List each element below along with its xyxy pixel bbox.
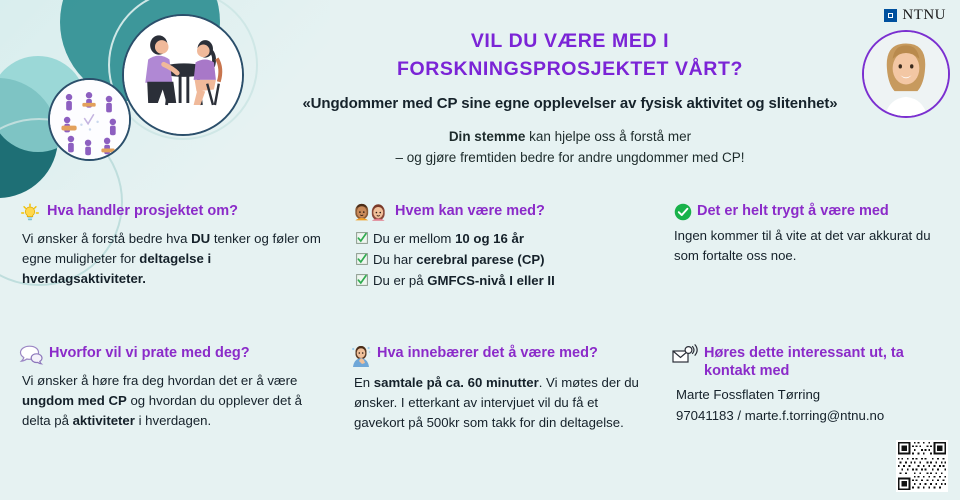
tagline-rest: kan hjelpe oss å forstå mer (525, 129, 691, 144)
contact-separator: / (737, 408, 741, 423)
who-bold-0: 10 og 16 år (455, 231, 524, 246)
section-about-heading: Hva handler prosjektet om? (18, 202, 328, 224)
checkbox-checked-icon (356, 232, 368, 244)
section-who: Hvem kan være med? Du er mellom 10 og 16… (342, 196, 664, 338)
who-bold-2: GMFCS-nivå I eller II (427, 273, 555, 288)
why-bold-2: aktiviteter (73, 413, 135, 428)
section-about-body: Vi ønsker å forstå bedre hva DU tenker o… (18, 229, 328, 289)
speech-bubbles-icon (18, 344, 44, 366)
contact-phone-email: 97041183 / marte.f.torring@ntnu.no (676, 406, 946, 426)
why-text-1: Vi ønsker å høre fra deg hvordan det er … (22, 373, 297, 388)
eligibility-list: Du er mellom 10 og 16 år Du har cerebral… (350, 229, 650, 292)
list-item: Du er på GMFCS-nivå I eller II (356, 271, 650, 292)
section-why-body: Vi ønsker å høre fra deg hvordan det er … (18, 371, 328, 431)
list-item: Du har cerebral parese (CP) (356, 250, 650, 271)
ntnu-wordmark: NTNU (902, 8, 946, 23)
section-who-heading: Hvem kan være med? (350, 202, 650, 224)
section-why: Hvorfor vil vi prate med deg? Vi ønsker … (0, 338, 342, 488)
contact-phone[interactable]: 97041183 (676, 408, 734, 423)
section-about-title: Hva handler prosjektet om? (47, 202, 238, 220)
two-people-icon (350, 202, 390, 224)
page-title-line1: VIL DU VÆRE MED I (250, 28, 890, 56)
section-about: Hva handler prosjektet om? Vi ønsker å f… (0, 196, 342, 338)
section-who-title: Hvem kan være med? (395, 202, 545, 220)
ntnu-logo: NTNU (884, 8, 946, 23)
contact-email[interactable]: marte.f.torring@ntnu.no (745, 408, 884, 423)
project-subtitle: «Ungdommer med CP sine egne opplevelser … (250, 95, 890, 112)
section-why-heading: Hvorfor vil vi prate med deg? (18, 344, 328, 366)
content-grid: Hva handler prosjektet om? Vi ønsker å f… (0, 196, 960, 496)
lightbulb-icon (18, 202, 42, 224)
section-what-title: Hva innebærer det å være med? (377, 344, 598, 362)
who-text-2: Du er på (373, 273, 427, 288)
who-bold-1: cerebral parese (CP) (416, 252, 544, 267)
section-contact-title: Høres dette interessant ut, ta kontakt m… (704, 344, 946, 380)
list-item-text: Du er mellom 10 og 16 år (373, 229, 524, 250)
why-bold-1: ungdom med CP (22, 393, 127, 408)
header-block: VIL DU VÆRE MED I FORSKNINGSPROSJEKTET V… (250, 28, 890, 168)
mail-contact-icon (672, 344, 699, 366)
section-safe-body: Ingen kommer til å vite at det var akkur… (670, 226, 946, 266)
tagline-bold: Din stemme (449, 129, 526, 144)
about-text-1: Vi ønsker å forstå bedre hva (22, 231, 191, 246)
tagline-line1: Din stemme kan hjelpe oss å forstå mer (250, 127, 890, 147)
section-what-heading: Hva innebærer det å være med? (350, 344, 650, 368)
section-safe-title: Det er helt trygt å være med (697, 202, 889, 220)
section-what-body: En samtale på ca. 60 minutter. Vi møtes … (350, 373, 650, 433)
list-item: Du er mellom 10 og 16 år (356, 229, 650, 250)
section-safe: Det er helt trygt å være med Ingen komme… (664, 196, 960, 338)
what-text-1: En (354, 375, 374, 390)
why-text-3: i hverdagen. (135, 413, 211, 428)
page-title-line2: FORSKNINGSPROSJEKTET VÅRT? (250, 56, 890, 84)
section-contact-heading: Høres dette interessant ut, ta kontakt m… (670, 344, 946, 380)
checkbox-checked-icon (356, 274, 368, 286)
contact-details: Marte Fossflaten Tørring 97041183 / mart… (670, 385, 946, 426)
qr-code-icon[interactable] (896, 440, 948, 492)
ntnu-square-icon (884, 9, 897, 22)
activities-illustration (50, 80, 129, 159)
list-item-text: Du har cerebral parese (CP) (373, 250, 545, 271)
section-safe-heading: Det er helt trygt å være med (670, 202, 946, 221)
what-bold-1: samtale på ca. 60 minutter (374, 375, 539, 390)
tagline: Din stemme kan hjelpe oss å forstå mer –… (250, 127, 890, 168)
green-check-circle-icon (674, 203, 692, 221)
about-bold-1: DU (191, 231, 210, 246)
contact-name: Marte Fossflaten Tørring (676, 385, 946, 405)
who-text-0: Du er mellom (373, 231, 455, 246)
tagline-line2: – og gjøre fremtiden bedre for andre ung… (250, 148, 890, 168)
list-item-text: Du er på GMFCS-nivå I eller II (373, 271, 555, 292)
checkbox-checked-icon (356, 253, 368, 265)
thinking-person-icon (350, 344, 372, 368)
interview-photo-circle (122, 14, 244, 136)
page-title: VIL DU VÆRE MED I FORSKNINGSPROSJEKTET V… (250, 28, 890, 83)
interview-illustration (124, 16, 242, 134)
daily-activities-photo-circle (48, 78, 131, 161)
section-what: Hva innebærer det å være med? En samtale… (342, 338, 664, 488)
who-text-1: Du har (373, 252, 416, 267)
section-why-title: Hvorfor vil vi prate med deg? (49, 344, 250, 362)
